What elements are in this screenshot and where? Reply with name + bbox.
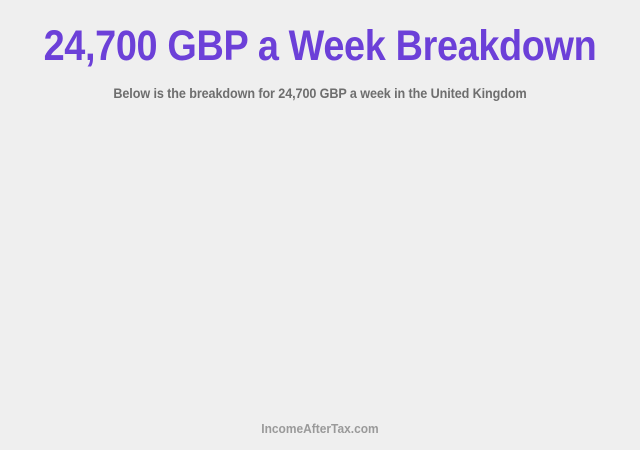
page-subtitle: Below is the breakdown for 24,700 GBP a … <box>32 84 608 102</box>
page-title: 24,700 GBP a Week Breakdown <box>38 22 601 70</box>
breakdown-content-area <box>0 118 640 408</box>
site-footer-attribution: IncomeAfterTax.com <box>26 421 615 437</box>
breakdown-page: 24,700 GBP a Week Breakdown Below is the… <box>0 0 640 450</box>
